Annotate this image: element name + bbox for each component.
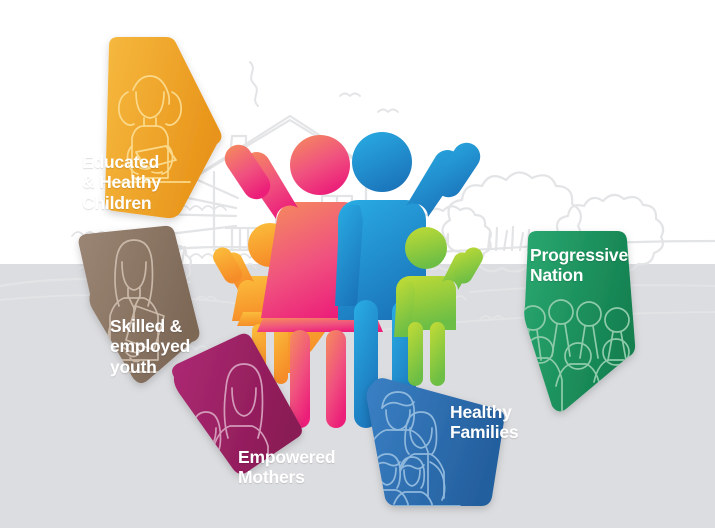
segment-educated-healthy-children[interactable] xyxy=(105,37,221,218)
infographic-canvas: Educated & Healthy Children Skilled & em… xyxy=(0,0,715,528)
segment-skilled-employed-youth[interactable] xyxy=(79,226,200,383)
segment-healthy-families[interactable] xyxy=(360,378,504,520)
segment-wheel xyxy=(0,0,715,528)
segment-empowered-mothers[interactable] xyxy=(172,334,302,502)
segment-progressive-nation[interactable] xyxy=(500,231,640,422)
